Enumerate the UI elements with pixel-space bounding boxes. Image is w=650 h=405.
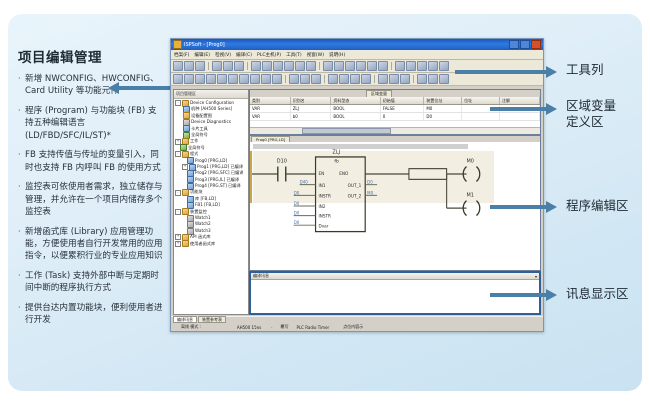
maximize-button[interactable]: [520, 40, 530, 49]
bullet-marker: ·: [18, 302, 25, 327]
svg-text:INSTR: INSTR: [319, 193, 331, 199]
svg-text:D10: D10: [277, 158, 287, 164]
toolbar-separator: [374, 75, 375, 83]
vertical-line-icon[interactable]: [239, 74, 249, 84]
toolbar-separator: [324, 75, 325, 83]
callout-variable-area: 区域变量 定义区: [566, 98, 616, 129]
svg-text:IN2: IN2: [319, 204, 326, 210]
variable-table-hscrollbar[interactable]: [250, 127, 540, 134]
feature-bullet-text: 提供台达内置功能块，便利使用者进行开发: [25, 302, 164, 327]
comment-icon[interactable]: [311, 74, 321, 84]
coil-icon[interactable]: [195, 74, 205, 84]
cut-icon[interactable]: [251, 61, 261, 71]
menu-item-plc[interactable]: PLC主机(P): [257, 52, 281, 58]
arrow-to-message-area: [490, 293, 547, 297]
redo-icon[interactable]: [306, 61, 316, 71]
feature-bullet: · 提供台达内置功能块，便利使用者进行开发: [18, 302, 164, 327]
toolbar-separator: [319, 62, 320, 70]
watch-table-icon[interactable]: [339, 74, 349, 84]
feature-bullet-text: 工作 (Task) 支持外部中断与定期时间中断的程序执行方式: [25, 270, 164, 295]
statusbar-scan-time: AH500 15ns: [237, 325, 261, 330]
program-editor[interactable]: Prog0 [PRG,LD] D10: [249, 135, 541, 271]
folder-icon: [182, 240, 189, 247]
window-buttons: [509, 40, 541, 49]
copy-icon[interactable]: [262, 61, 272, 71]
find-icon[interactable]: [417, 61, 427, 71]
statusbar-cells: 离线 模式 : AH500 15ns · 覆写 PLC Radio Timer …: [171, 323, 543, 331]
feature-title: 项目编辑管理: [18, 46, 164, 66]
function-block-icon[interactable]: [261, 74, 271, 84]
statusbar-mode: 离线 模式 :: [181, 324, 201, 330]
cell-device: D0: [424, 113, 462, 120]
feature-bullet-text: 程序 (Program) 与功能块 (FB) 支持五种编辑语言 (LD/FBD/…: [25, 105, 164, 142]
svg-text:OUT_2: OUT_2: [348, 193, 362, 199]
horizontal-line-icon[interactable]: [250, 74, 260, 84]
tree-toggle-icon[interactable]: +: [175, 241, 181, 247]
branch-icon[interactable]: [228, 74, 238, 84]
menu-item-edit[interactable]: 编辑(E): [194, 52, 210, 58]
cross-reference-icon[interactable]: [350, 74, 360, 84]
cell-datatype: BOOL: [331, 113, 380, 120]
symbol-table-icon[interactable]: [328, 74, 338, 84]
svg-text:M0: M0: [367, 190, 373, 195]
coil-set-icon[interactable]: [206, 74, 216, 84]
application-window: ISPSoft - [Prog0] 档案(F) 编辑(E) 检视(V) 编译(C…: [170, 38, 544, 332]
feature-bullet: · 工作 (Task) 支持外部中断与定期时间中断的程序执行方式: [18, 270, 164, 295]
print-setup-icon[interactable]: [234, 61, 244, 71]
cell-category: VAR: [250, 113, 291, 120]
feature-bullet: · 新增函式库 (Library) 应用管理功能，方便使用者自行开发常用的应用指…: [18, 226, 164, 263]
svg-text:D0: D0: [367, 179, 373, 184]
svg-text:Dvar: Dvar: [319, 223, 329, 229]
upload-icon[interactable]: [345, 61, 355, 71]
statusbar-overwrite: 覆写: [281, 324, 289, 330]
toolbar-separator: [247, 62, 248, 70]
feature-bullet: · FB 支持传值与传址的变量引入，同时也支持 FB 内呼叫 FB 的使用方式: [18, 149, 164, 174]
column-header-device: 装置位址: [424, 97, 462, 104]
feature-bullet: · 程序 (Program) 与功能块 (FB) 支持五种编辑语言 (LD/FB…: [18, 105, 164, 142]
tree-toggle-icon[interactable]: -: [175, 100, 181, 106]
feature-bullet: · 监控表可依使用者需求，独立储存与管理，并允许在一个项目内储存多个监控表: [18, 181, 164, 218]
window-titlebar: ISPSoft - [Prog0]: [171, 39, 543, 50]
menubar: 档案(F) 编辑(E) 检视(V) 编译(C) PLC主机(P) 工具(T) 视…: [171, 50, 543, 60]
run-icon[interactable]: [367, 61, 377, 71]
column-header-identifier: 识别名: [291, 97, 332, 104]
toolbar-separator: [413, 75, 414, 83]
column-header-comment: 注解: [500, 97, 540, 104]
variable-table-header: 类别 识别名 资料型态 初始值 装置位址 位址 注解: [250, 97, 540, 105]
svg-text:IN1: IN1: [319, 183, 326, 189]
svg-text:fb: fb: [334, 158, 338, 164]
bullet-marker: ·: [18, 226, 25, 263]
cell-device: M0: [424, 105, 462, 112]
bullet-marker: ·: [18, 149, 25, 174]
chevron-icon[interactable]: ▾: [535, 274, 537, 279]
monitor-icon[interactable]: [356, 61, 366, 71]
variable-table-tabrow: 区域变量: [250, 90, 540, 97]
new-icon[interactable]: [173, 61, 183, 71]
menu-item-help[interactable]: 说明(H): [329, 52, 345, 58]
bullet-marker: ·: [18, 181, 25, 218]
arrow-to-variable-area: [490, 107, 547, 111]
callout-message-area: 讯息显示区: [566, 286, 629, 302]
print-icon[interactable]: [212, 61, 222, 71]
slide-root: 项目编辑管理 · 新增 NWCONFIG、HWCONFIG、Card Utili…: [0, 0, 650, 405]
svg-text:EN: EN: [319, 171, 325, 177]
contact-nc-icon[interactable]: [184, 74, 194, 84]
paste-icon[interactable]: [273, 61, 283, 71]
statusbar-position: 点位内容示: [343, 324, 363, 330]
menu-item-view[interactable]: 检视(V): [215, 52, 231, 58]
toolbar-separator: [391, 62, 392, 70]
feature-bullet-text: FB 支持传值与传址的变量引入，同时也支持 FB 内呼叫 FB 的使用方式: [25, 149, 164, 174]
toolbar-separator: [285, 75, 286, 83]
callout-editor-label: 程序编辑区: [566, 198, 629, 213]
stop-icon[interactable]: [378, 61, 388, 71]
cell-datatype: BOOL: [331, 105, 380, 112]
delete-icon[interactable]: [284, 61, 294, 71]
cell-category: VAR: [250, 105, 291, 112]
open-icon[interactable]: [184, 61, 194, 71]
cell-address: [462, 113, 500, 120]
tree-toggle-icon[interactable]: -: [175, 151, 181, 157]
statusbar-separator: ·: [271, 325, 272, 330]
zoom-out-icon[interactable]: [406, 61, 416, 71]
zoom-in-icon[interactable]: [395, 61, 405, 71]
statusbar-tab-compile[interactable]: 编译讯息: [173, 316, 197, 324]
tree-toggle-icon[interactable]: +: [175, 234, 181, 240]
menu-item-window[interactable]: 视窗(W): [307, 52, 324, 58]
project-tree-panel[interactable]: 项目管理区 -Device Configuration 机种 [AH500 Se…: [173, 89, 249, 315]
scrollbar-thumb[interactable]: [302, 128, 391, 134]
card-utility-icon[interactable]: [439, 74, 449, 84]
tree-toggle-icon[interactable]: -: [175, 209, 181, 215]
feature-bullet-text: 新增函式库 (Library) 应用管理功能，方便使用者自行开发常用的应用指令，…: [25, 226, 164, 263]
compile-icon[interactable]: [323, 61, 333, 71]
bullet-marker: ·: [18, 270, 25, 295]
nwconfig-icon[interactable]: [428, 74, 438, 84]
minimize-button[interactable]: [509, 40, 519, 49]
menu-item-tools[interactable]: 工具(T): [286, 52, 302, 58]
coil-reset-icon[interactable]: [217, 74, 227, 84]
cell-initial: 0: [381, 113, 425, 120]
svg-text:D40: D40: [300, 179, 308, 184]
close-button[interactable]: [531, 40, 541, 49]
cell-initial: FALSE: [381, 105, 425, 112]
callout-program-editor: 程序编辑区: [566, 198, 629, 214]
cell-identifier: b0: [291, 113, 332, 120]
column-header-initial: 初始值: [381, 97, 425, 104]
statusbar-tab-device-ref[interactable]: 装置参考表: [198, 316, 226, 324]
force-icon[interactable]: [400, 74, 410, 84]
right-stack: 区域变量 类别 识别名 资料型态 初始值 装置位址 位址 注解 VAR ZLJ: [249, 89, 541, 315]
table-row[interactable]: VAR b0 BOOL 0 D0: [250, 113, 540, 121]
work-area: 项目管理区 -Device Configuration 机种 [AH500 Se…: [171, 87, 543, 317]
column-header-address: 位址: [462, 97, 500, 104]
column-header-category: 类别: [250, 97, 291, 104]
tree-node[interactable]: +使用者函式库: [175, 241, 248, 247]
column-header-datatype: 资料型态: [331, 97, 380, 104]
download-icon[interactable]: [334, 61, 344, 71]
tree-toggle-icon[interactable]: -: [175, 190, 181, 196]
svg-text:ZLJ: ZLJ: [332, 150, 340, 156]
network-delete-icon[interactable]: [300, 74, 310, 84]
callout-toolbar: 工具列: [566, 62, 604, 78]
menu-item-file[interactable]: 档案(F): [174, 52, 189, 58]
svg-text:ENO: ENO: [339, 171, 349, 177]
svg-text:D0: D0: [294, 210, 300, 215]
svg-text:D0: D0: [294, 220, 300, 225]
network-add-icon[interactable]: [289, 74, 299, 84]
tree-node-label: 使用者函式库: [190, 241, 215, 247]
project-tree-body: -Device Configuration 机种 [AH500 Series] …: [174, 99, 248, 247]
arrow-to-toolbar: [455, 70, 547, 74]
svg-text:D0: D0: [294, 201, 300, 206]
message-window-header: 编译讯息 ▾: [251, 273, 539, 280]
callout-toolbar-label: 工具列: [566, 62, 604, 77]
statusbar: 编译讯息 装置参考表 离线 模式 : AH500 15ns · 覆写 PLC R…: [171, 316, 543, 331]
callout-message-label: 讯息显示区: [566, 286, 629, 301]
local-variable-table[interactable]: 区域变量 类别 识别名 资料型态 初始值 装置位址 位址 注解 VAR ZLJ: [249, 89, 541, 135]
toolbar-row-2: [171, 73, 543, 86]
bullet-marker: ·: [18, 73, 25, 98]
cell-identifier: ZLJ: [291, 105, 332, 112]
message-window-title: 编译讯息: [253, 273, 269, 279]
online-mode-icon[interactable]: [378, 74, 388, 84]
toolbar-separator: [208, 62, 209, 70]
svg-text:INSTR: INSTR: [319, 214, 331, 220]
cell-comment: [500, 113, 540, 120]
undo-icon[interactable]: [295, 61, 305, 71]
svg-text:D0: D0: [294, 190, 300, 195]
feature-bullet-text: 监控表可依使用者需求，独立储存与管理，并允许在一个项目内储存多个监控表: [25, 181, 164, 218]
instruction-icon[interactable]: [272, 74, 282, 84]
simulator-icon[interactable]: [389, 74, 399, 84]
arrow-to-program-editor: [490, 205, 547, 209]
app-icon: [173, 40, 182, 49]
callout-variable-line1: 区域变量: [566, 98, 616, 114]
tab-local-variables[interactable]: 区域变量: [366, 90, 392, 97]
callout-variable-line2: 定义区: [566, 114, 616, 130]
help-icon[interactable]: [439, 61, 449, 71]
hwconfig-icon[interactable]: [417, 74, 427, 84]
device-grid-icon[interactable]: [361, 74, 371, 84]
svg-text:M0: M0: [467, 158, 474, 164]
print-preview-icon[interactable]: [223, 61, 233, 71]
save-icon[interactable]: [195, 61, 205, 71]
replace-icon[interactable]: [428, 61, 438, 71]
window-title: ISPSoft - [Prog0]: [184, 41, 509, 47]
bullet-marker: ·: [18, 105, 25, 142]
statusbar-plc-timer: PLC Radio Timer: [297, 325, 330, 330]
project-tree-header: 项目管理区: [174, 90, 248, 99]
menu-item-compile[interactable]: 编译(C): [236, 52, 252, 58]
svg-text:M1: M1: [467, 192, 474, 198]
contact-no-icon[interactable]: [173, 74, 183, 84]
svg-text:OUT_1: OUT_1: [348, 183, 362, 189]
message-window-body[interactable]: [251, 280, 539, 315]
